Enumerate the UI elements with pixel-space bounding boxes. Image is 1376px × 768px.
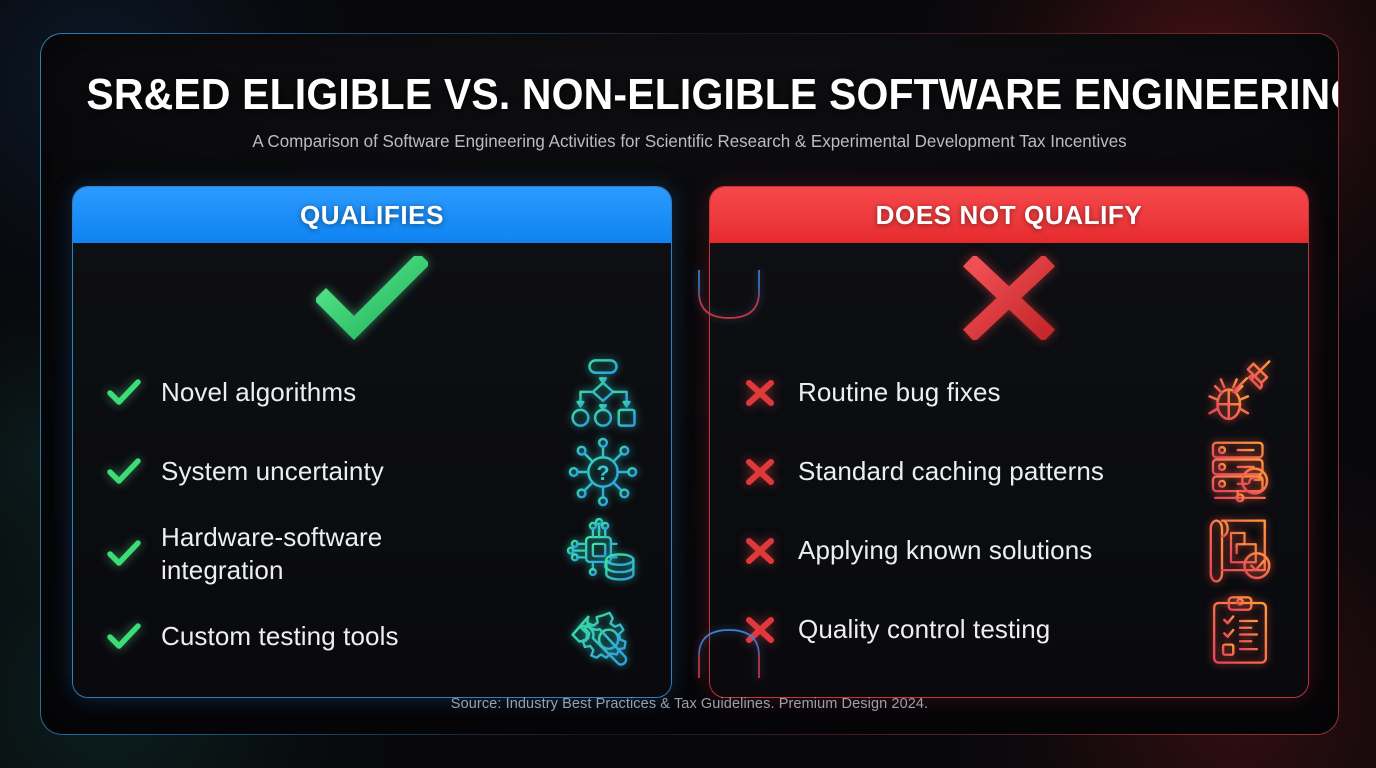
cross-icon xyxy=(744,378,798,408)
list-item[interactable]: Hardware-software integration xyxy=(107,511,645,597)
list-item[interactable]: Applying known solutions xyxy=(744,511,1282,590)
outer-frame: SR&ED ELIGIBLE VS. NON-ELIGIBLE SOFTWARE… xyxy=(40,33,1339,735)
list-item-label: Applying known solutions xyxy=(798,534,1092,567)
large-cross-icon xyxy=(710,243,1308,353)
cross-icon xyxy=(744,457,798,487)
cross-icon xyxy=(744,615,798,645)
list-item[interactable]: Standard caching patterns xyxy=(744,432,1282,511)
large-check-icon xyxy=(73,243,671,353)
list-item[interactable]: Novel algorithms xyxy=(107,353,645,432)
panel-does-not-qualify: DOES NOT QUALIFY xyxy=(709,186,1309,698)
check-icon xyxy=(107,379,161,407)
check-icon xyxy=(107,458,161,486)
list-item-label: Quality control testing xyxy=(798,613,1050,646)
panel-qualifies-heading: QUALIFIES xyxy=(73,187,671,243)
does-not-qualify-list: Routine bug fixes xyxy=(710,353,1308,669)
list-item-label: Hardware-software integration xyxy=(161,521,491,588)
panel-does-not-qualify-body: Routine bug fixes xyxy=(710,243,1308,697)
blueprint-check-icon xyxy=(1204,515,1276,587)
list-item-label: Novel algorithms xyxy=(161,376,356,409)
list-item[interactable]: Custom testing tools xyxy=(107,597,645,676)
infographic-canvas: SR&ED ELIGIBLE VS. NON-ELIGIBLE SOFTWARE… xyxy=(0,0,1376,768)
check-icon xyxy=(107,623,161,651)
list-item-label: Standard caching patterns xyxy=(798,455,1104,488)
footer-source: Source: Industry Best Practices & Tax Gu… xyxy=(41,696,1338,712)
check-icon xyxy=(107,540,161,568)
panel-qualifies: QUALIFIES xyxy=(72,186,672,698)
flowchart-icon xyxy=(567,357,639,429)
clipboard-checklist-icon xyxy=(1204,594,1276,666)
question-network-icon: ? xyxy=(567,436,639,508)
svg-text:?: ? xyxy=(596,460,609,484)
list-item[interactable]: Routine bug fixes xyxy=(744,353,1282,432)
server-cache-icon xyxy=(1204,436,1276,508)
panel-qualifies-body: Novel algorithms xyxy=(73,243,671,697)
bug-hammer-icon xyxy=(1204,357,1276,429)
list-item-label: System uncertainty xyxy=(161,455,384,488)
list-item[interactable]: Quality control testing xyxy=(744,590,1282,669)
chip-database-icon xyxy=(567,518,639,590)
list-item[interactable]: System uncertainty xyxy=(107,432,645,511)
list-item-label: Custom testing tools xyxy=(161,620,399,653)
panel-container: QUALIFIES xyxy=(41,34,1338,734)
wrench-gear-icon xyxy=(567,601,639,673)
qualifies-list: Novel algorithms xyxy=(73,353,671,676)
panel-does-not-qualify-heading: DOES NOT QUALIFY xyxy=(710,187,1308,243)
cross-icon xyxy=(744,536,798,566)
list-item-label: Routine bug fixes xyxy=(798,376,1001,409)
